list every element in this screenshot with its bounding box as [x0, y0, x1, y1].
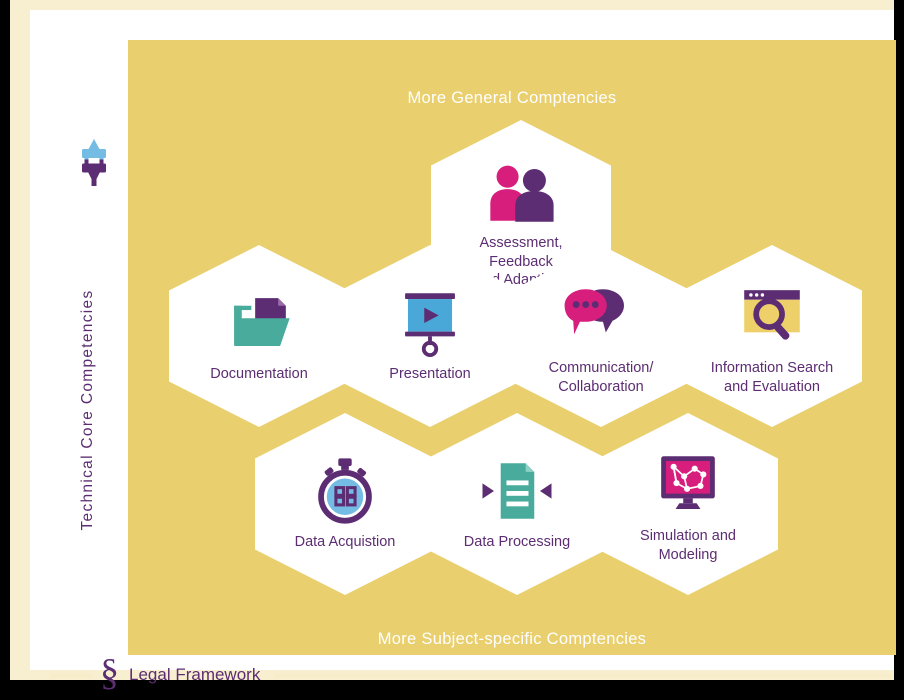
- hex-documentation[interactable]: Documentation: [169, 245, 349, 427]
- legal-framework-bar: § Legal Framework: [50, 658, 904, 692]
- folder-document-icon: [213, 287, 305, 359]
- caption-line-2: Modeling: [659, 547, 718, 563]
- divider-right: [274, 673, 892, 678]
- plug-icon: [74, 134, 114, 188]
- hex-caption: Information Search and Evaluation: [697, 359, 847, 396]
- panel-bottom-label: More Subject-specific Comptencies: [128, 630, 896, 649]
- divider-left: [50, 673, 92, 678]
- hex-data-processing[interactable]: Data Processing: [427, 413, 607, 595]
- hex-information-search-and-evaluation[interactable]: Information Search and Evaluation: [682, 245, 862, 427]
- vertical-axis-label-wrap: Technical Core Competencies: [58, 240, 118, 580]
- hex-caption: Data Processing: [442, 533, 592, 552]
- caption-line-1: Documentation: [210, 366, 308, 382]
- section-symbol-icon: §: [100, 654, 119, 692]
- two-people-icon: [475, 156, 567, 228]
- browser-magnifier-icon: [726, 281, 818, 353]
- caption-line-1: Communication/: [549, 360, 654, 376]
- hex-caption: Communication/ Collaboration: [526, 359, 676, 396]
- caption-line-1: Data Acquistion: [295, 534, 396, 550]
- stopwatch-icon: [299, 455, 391, 527]
- caption-line-1: Data Processing: [464, 534, 570, 550]
- hex-simulation-and-modeling[interactable]: Simulation and Modeling: [598, 413, 778, 595]
- speech-bubbles-icon: [555, 281, 647, 353]
- hex-caption: Presentation: [355, 365, 505, 384]
- legal-framework-label: Legal Framework: [129, 665, 260, 685]
- caption-line-1: Presentation: [389, 366, 470, 382]
- hex-caption: Simulation and Modeling: [613, 527, 763, 564]
- competency-panel: More General Comptencies More Subject-sp…: [128, 40, 896, 655]
- caption-line-1: Information Search: [711, 360, 834, 376]
- hex-caption: Data Acquistion: [270, 533, 420, 552]
- caption-line-1: Simulation and: [640, 528, 736, 544]
- vertical-axis-label: Technical Core Competencies: [79, 289, 97, 530]
- caption-line-2: Collaboration: [558, 379, 643, 395]
- caption-line-1: Assessment, Feedback: [480, 235, 563, 270]
- panel-top-label: More General Comptencies: [128, 89, 896, 108]
- document-arrows-icon: [471, 455, 563, 527]
- hex-caption: Documentation: [184, 365, 334, 384]
- caption-line-2: and Evaluation: [724, 379, 820, 395]
- monitor-network-graph-icon: [642, 449, 734, 521]
- outer-frame: Technical Core Competencies More General…: [10, 0, 894, 680]
- projector-screen-play-icon: [384, 287, 476, 359]
- inner-white-area: Technical Core Competencies More General…: [30, 10, 894, 670]
- hex-data-acquistion[interactable]: Data Acquistion: [255, 413, 435, 595]
